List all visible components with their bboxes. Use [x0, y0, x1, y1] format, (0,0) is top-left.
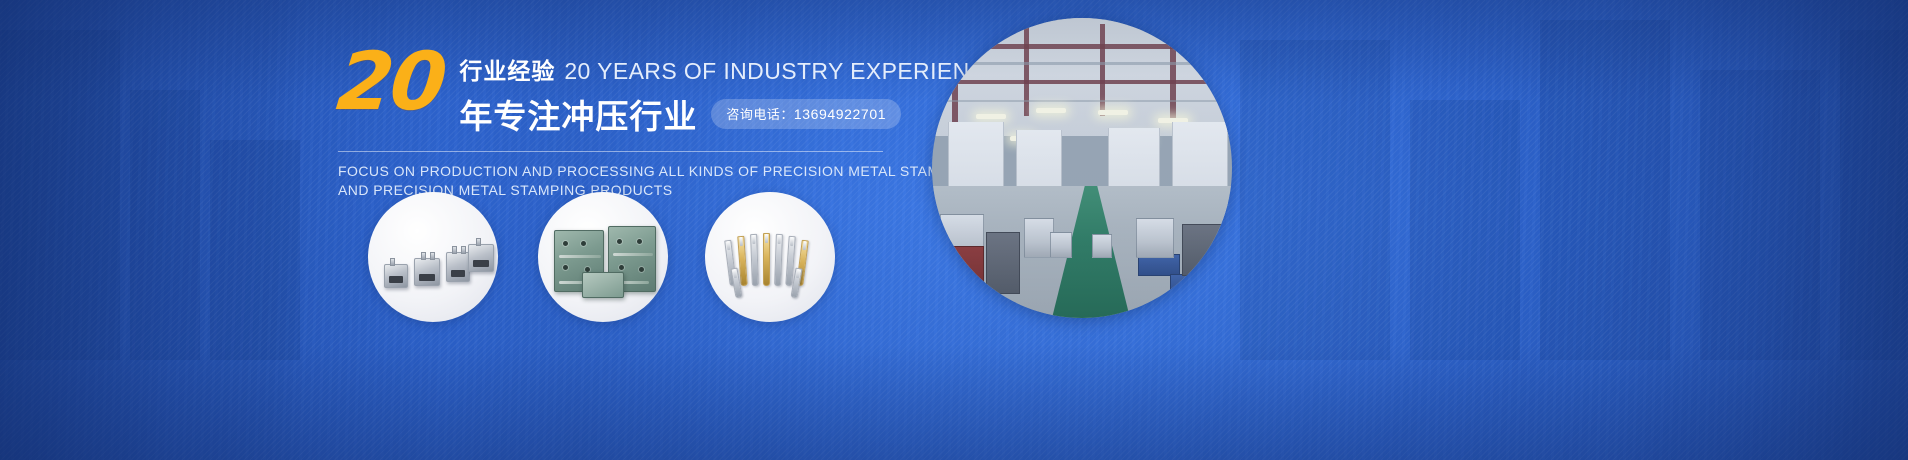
banner-copy: 20 行业经验 20 YEARS OF INDUSTRY EXPERIENCE …	[338, 40, 898, 199]
headline-row: 20 行业经验 20 YEARS OF INDUSTRY EXPERIENCE …	[338, 40, 898, 138]
phone-badge-number: 13694922701	[794, 106, 886, 122]
headline-line-2: 年专注冲压行业 咨询电话： 13694922701	[459, 90, 1002, 138]
factory-photo-tint	[932, 18, 1232, 318]
headline-text: 行业经验 20 YEARS OF INDUSTRY EXPERIENCE 年专注…	[459, 40, 1002, 138]
phone-badge[interactable]: 咨询电话： 13694922701	[711, 99, 901, 129]
years-number: 20	[334, 48, 446, 116]
copy-divider	[338, 151, 883, 152]
product-circle-terminals	[705, 192, 835, 322]
subcopy-line-1: FOCUS ON PRODUCTION AND PROCESSING ALL K…	[338, 162, 898, 181]
promo-banner: 20 行业经验 20 YEARS OF INDUSTRY EXPERIENCE …	[0, 0, 1908, 460]
phone-badge-label: 咨询电话：	[726, 104, 794, 123]
factory-photo-circle	[932, 18, 1232, 318]
headline-cn-small: 行业经验	[459, 52, 555, 86]
product-circle-mold	[538, 192, 668, 322]
headline-line-1: 行业经验 20 YEARS OF INDUSTRY EXPERIENCE	[459, 52, 1002, 86]
headline-cn-large: 年专注冲压行业	[459, 90, 697, 138]
product-circle-connectors	[368, 192, 498, 322]
